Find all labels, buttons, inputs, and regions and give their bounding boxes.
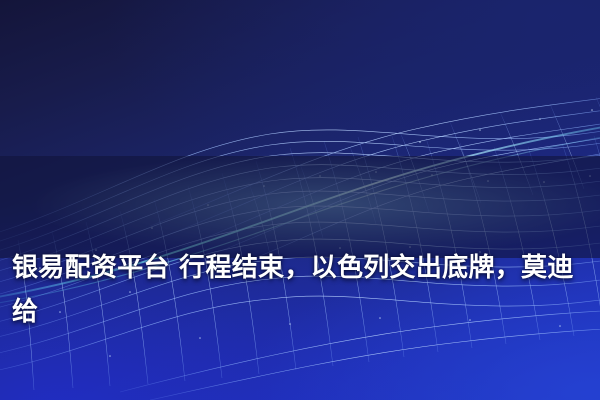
headline-line-1: 银易配资平台 行程结束，以色列交出底牌，莫迪给: [6, 246, 594, 334]
banner-image: 银易配资平台 行程结束，以色列交出底牌，莫迪给 内塔尼亚胡画大饼：印度付100亿…: [0, 0, 600, 400]
headline: 银易配资平台 行程结束，以色列交出底牌，莫迪给 内塔尼亚胡画大饼：印度付100亿…: [0, 158, 600, 400]
